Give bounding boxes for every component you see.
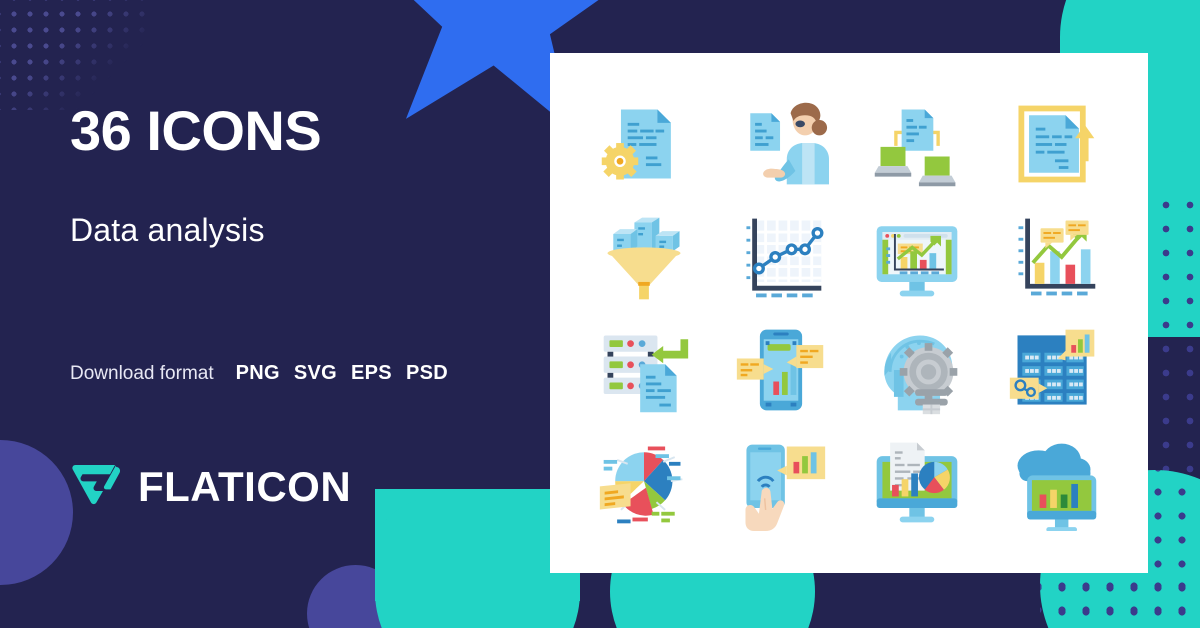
gear-shape — [602, 143, 638, 179]
icon-cell[interactable] — [713, 426, 850, 539]
format-eps[interactable]: EPS — [351, 362, 392, 385]
icon-cell[interactable] — [849, 200, 986, 313]
mobile-analytics-icon — [733, 322, 829, 418]
icon-preview-panel — [550, 53, 1148, 573]
icon-grid — [550, 53, 1148, 573]
database-report-icon — [1006, 322, 1102, 418]
line-graph-grid-icon — [733, 209, 829, 305]
icon-cell[interactable] — [713, 313, 850, 426]
document-upload-icon — [1006, 96, 1102, 192]
icon-cell[interactable] — [986, 87, 1123, 200]
dot-pattern-bottom-icon — [1040, 570, 1200, 628]
desktop-analytics-icon — [869, 209, 965, 305]
format-png[interactable]: PNG — [236, 362, 280, 385]
icon-cell[interactable] — [986, 200, 1123, 313]
icon-cell[interactable] — [986, 313, 1123, 426]
icon-cell[interactable] — [576, 200, 713, 313]
icon-cell[interactable] — [986, 426, 1123, 539]
icon-cell[interactable] — [576, 426, 713, 539]
desktop-report-icon — [869, 435, 965, 531]
download-format-row: Download format PNG SVG EPS PSD — [70, 362, 448, 385]
banner-canvas: 36 ICONS Data analysis Download format P… — [0, 0, 1200, 628]
cloud-analytics-icon — [1006, 435, 1102, 531]
page-title: 36 ICONS — [70, 103, 321, 159]
brand-logo[interactable]: FLATICON — [70, 462, 351, 512]
data-funnel-icon — [596, 209, 692, 305]
icon-cell[interactable] — [713, 87, 850, 200]
icon-cell[interactable] — [576, 87, 713, 200]
download-format-list: PNG SVG EPS PSD — [236, 362, 448, 385]
flaticon-logo-icon — [70, 462, 124, 512]
data-blocks — [614, 217, 680, 251]
icon-cell[interactable] — [713, 200, 850, 313]
icon-cell[interactable] — [849, 426, 986, 539]
data-sharing-laptops-icon — [869, 96, 965, 192]
pie-chart-report-icon — [596, 435, 692, 531]
format-svg[interactable]: SVG — [294, 362, 337, 385]
laptop-left — [875, 146, 911, 176]
document-settings-icon — [596, 96, 692, 192]
icon-cell[interactable] — [576, 313, 713, 426]
touch-mobile-chart-icon — [733, 435, 829, 531]
server-document-icon — [596, 322, 692, 418]
analyst-presenting-icon — [733, 96, 829, 192]
format-psd[interactable]: PSD — [406, 362, 448, 385]
icon-cell[interactable] — [849, 313, 986, 426]
growth-bar-chart-icon — [1006, 209, 1102, 305]
page-subtitle: Data analysis — [70, 212, 265, 249]
ai-robot-head-icon — [869, 322, 965, 418]
brand-name: FLATICON — [138, 466, 351, 508]
purple-circle-left-icon — [0, 440, 73, 585]
icon-cell[interactable] — [849, 87, 986, 200]
banner-text-column: 36 ICONS Data analysis Download format P… — [70, 0, 540, 628]
download-format-label: Download format — [70, 363, 214, 385]
note-bubbles — [1040, 220, 1088, 248]
laptop-right — [919, 156, 955, 186]
